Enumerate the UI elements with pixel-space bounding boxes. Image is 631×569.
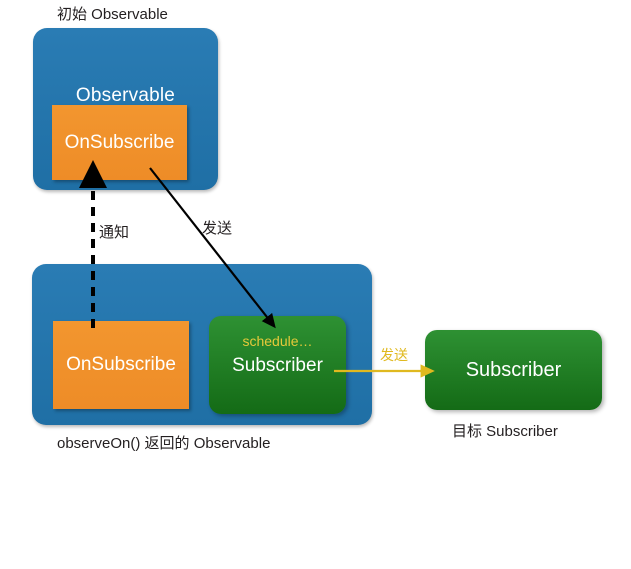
node-source-onsubscribe-label: OnSubscribe (65, 132, 175, 154)
node-target-subscriber: Subscriber (425, 330, 602, 410)
caption-source-observable: 初始 Observable (57, 3, 168, 24)
caption-observeon-observable: observeOn() 返回的 Observable (57, 432, 270, 453)
arrow-label-emit-diagonal: 发送 (202, 217, 232, 238)
node-source-observable-label: Observable (33, 85, 218, 107)
node-observeon-subscriber-label: Subscriber (209, 355, 346, 377)
arrow-label-emit-horizontal: 发送 (380, 345, 408, 365)
node-observeon-subscriber: schedule… Subscriber (209, 316, 346, 414)
caption-target-subscriber: 目标 Subscriber (452, 420, 558, 441)
node-observeon-subscriber-schedule-label: schedule… (209, 333, 346, 349)
node-source-onsubscribe: OnSubscribe (52, 105, 187, 180)
arrow-label-notify: 通知 (99, 221, 129, 242)
node-observeon-onsubscribe: OnSubscribe (53, 321, 189, 409)
node-observeon-observable-label: Observable (32, 547, 372, 569)
node-observeon-onsubscribe-label: OnSubscribe (66, 354, 176, 376)
diagram-canvas: 初始 Observable Observable OnSubscribe Obs… (0, 0, 631, 466)
node-target-subscriber-label: Subscriber (466, 359, 562, 382)
